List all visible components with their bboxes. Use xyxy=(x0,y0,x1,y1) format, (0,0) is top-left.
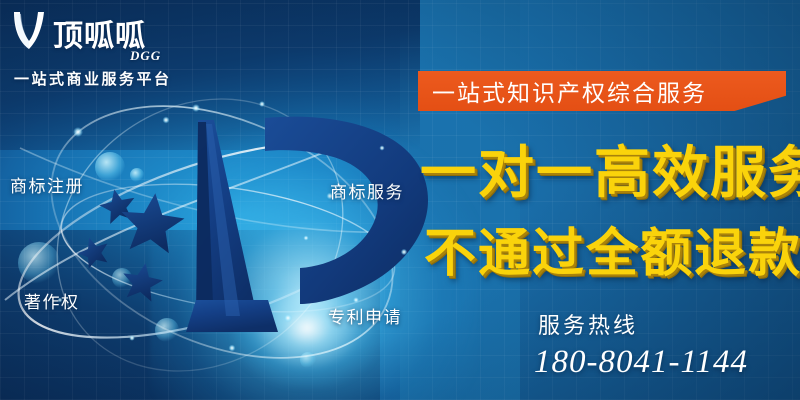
headline-secondary: 不通过全额退款 xyxy=(424,228,800,280)
brand-name-en: DGG xyxy=(130,48,161,64)
feature-label-trademark-service: 商标服务 xyxy=(330,178,404,203)
feature-label-patent-application: 专利申请 xyxy=(328,303,402,328)
dgg-checkmark-logo-icon xyxy=(8,8,50,52)
promo-banner: 顶呱呱 DGG 一站式商业服务平台 商标注册 著作权 商标服务 专利申请 一站式… xyxy=(0,0,800,400)
orange-ribbon: 一站式知识产权综合服务 xyxy=(418,71,786,111)
brand-tagline: 一站式商业服务平台 xyxy=(14,68,172,89)
hotline-number[interactable]: 180-8041-1144 xyxy=(534,344,748,381)
hotline-label: 服务热线 xyxy=(538,308,638,340)
headline-primary: 一对一高效服务 xyxy=(420,146,800,202)
ribbon-text: 一站式知识产权综合服务 xyxy=(418,74,707,108)
brand-logo[interactable]: 顶呱呱 DGG 一站式商业服务平台 xyxy=(8,8,208,92)
feature-label-trademark-registration: 商标注册 xyxy=(10,172,84,197)
feature-label-copyright: 著作权 xyxy=(24,288,80,313)
